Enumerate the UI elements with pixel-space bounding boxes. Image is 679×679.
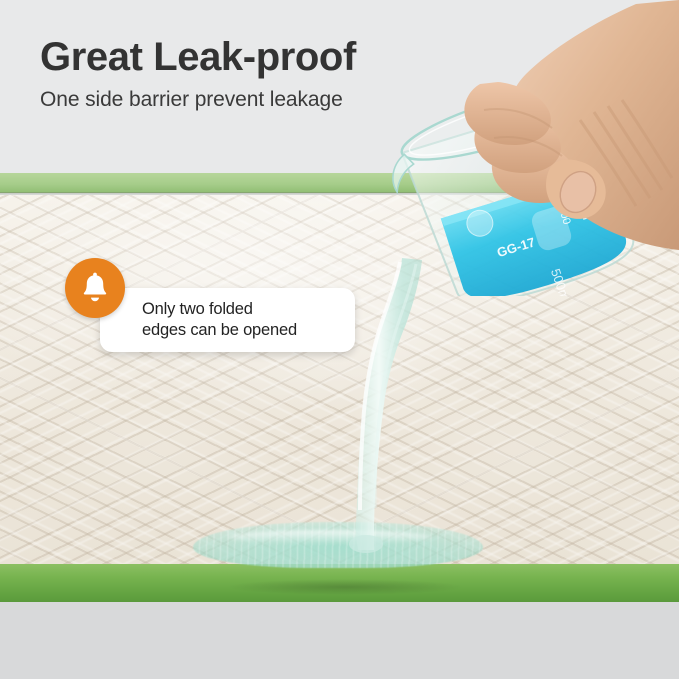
callout-line-1: Only two folded <box>142 300 253 318</box>
callout-line-2: edges can be opened <box>142 320 297 341</box>
callout-badge <box>65 258 125 318</box>
callout-box: Only two folded edges can be opened <box>100 288 355 352</box>
product-feature-image: Great Leak-proof One side barrier preven… <box>0 0 679 679</box>
hand-holding-beaker <box>430 0 679 270</box>
mat-bottom-edge-shadow <box>180 576 510 598</box>
mat-bottom-green-edge <box>0 564 679 602</box>
bell-icon <box>79 272 111 304</box>
floor-background <box>0 602 679 679</box>
callout-text: Only two folded edges can be opened <box>142 299 297 341</box>
